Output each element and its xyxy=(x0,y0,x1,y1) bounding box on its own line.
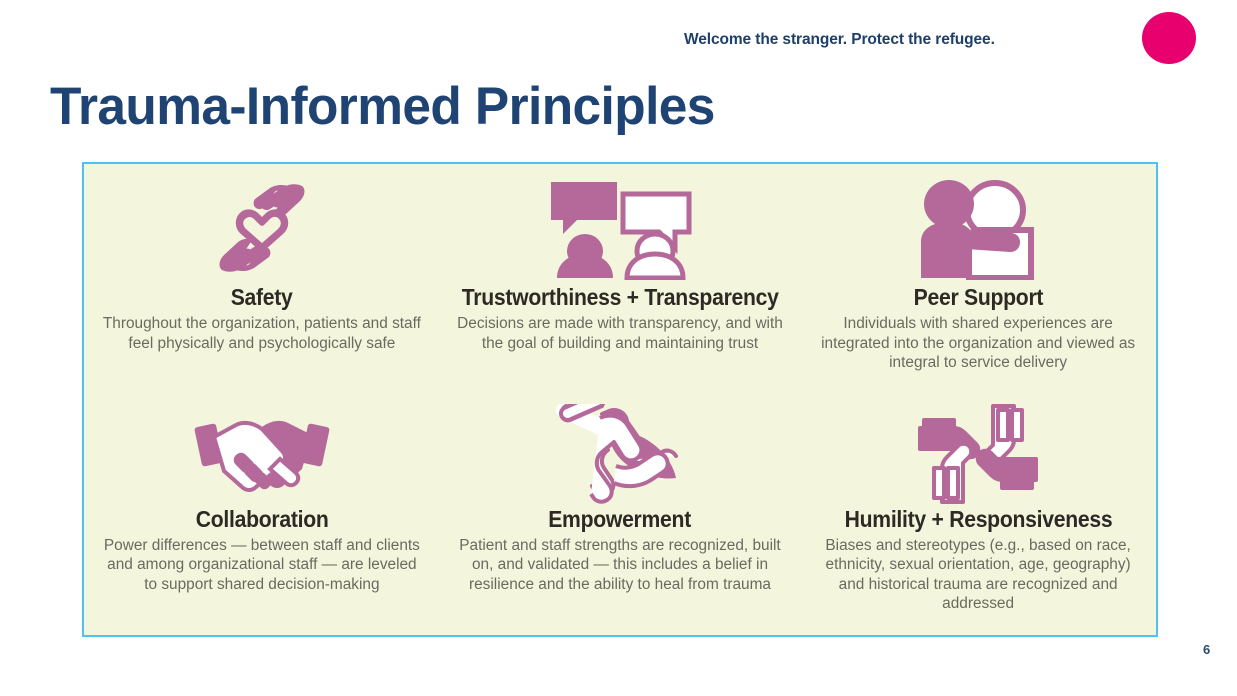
four-hands-pinwheel-icon xyxy=(918,402,1038,506)
principle-heading: Empowerment xyxy=(549,506,692,532)
principle-card-empowerment: Empowerment Patient and staff strengths … xyxy=(436,402,804,632)
principle-heading: Safety xyxy=(231,284,293,310)
principle-heading: Trustworthiness + Transparency xyxy=(462,284,779,310)
principle-heading: Collaboration xyxy=(195,506,328,532)
principle-body: Patient and staff strengths are recogniz… xyxy=(455,536,785,595)
principle-body: Decisions are made with transparency, an… xyxy=(455,314,785,353)
page-title: Trauma-Informed Principles xyxy=(50,76,715,138)
principle-card-peer-support: Peer Support Individuals with shared exp… xyxy=(804,172,1152,402)
principle-card-safety: Safety Throughout the organization, pati… xyxy=(88,172,436,402)
two-people-speech-bubbles-icon xyxy=(545,172,695,284)
principle-body: Power differences — between staff and cl… xyxy=(100,536,424,595)
person-supporting-person-icon xyxy=(913,172,1043,284)
principle-body: Throughout the organization, patients an… xyxy=(100,314,424,353)
principle-heading: Peer Support xyxy=(913,284,1043,310)
principle-card-collaboration: Collaboration Power differences — betwee… xyxy=(88,402,436,632)
hands-holding-heart-icon xyxy=(202,172,322,284)
page-number: 6 xyxy=(1203,642,1210,657)
principles-panel: Safety Throughout the organization, pati… xyxy=(82,162,1158,637)
organization-tagline: Welcome the stranger. Protect the refuge… xyxy=(684,31,995,49)
slide-canvas: Welcome the stranger. Protect the refuge… xyxy=(0,0,1237,696)
handshake-icon xyxy=(192,402,332,506)
principle-body: Individuals with shared experiences are … xyxy=(816,314,1140,373)
brand-dot-icon xyxy=(1142,12,1196,64)
principle-card-trustworthiness: Trustworthiness + Transparency Decisions… xyxy=(436,172,804,402)
principle-card-humility: Humility + Responsiveness Biases and ste… xyxy=(804,402,1152,632)
principle-heading: Humility + Responsiveness xyxy=(844,506,1112,532)
superhero-flying-icon xyxy=(550,402,690,506)
principle-body: Biases and stereotypes (e.g., based on r… xyxy=(816,536,1140,614)
